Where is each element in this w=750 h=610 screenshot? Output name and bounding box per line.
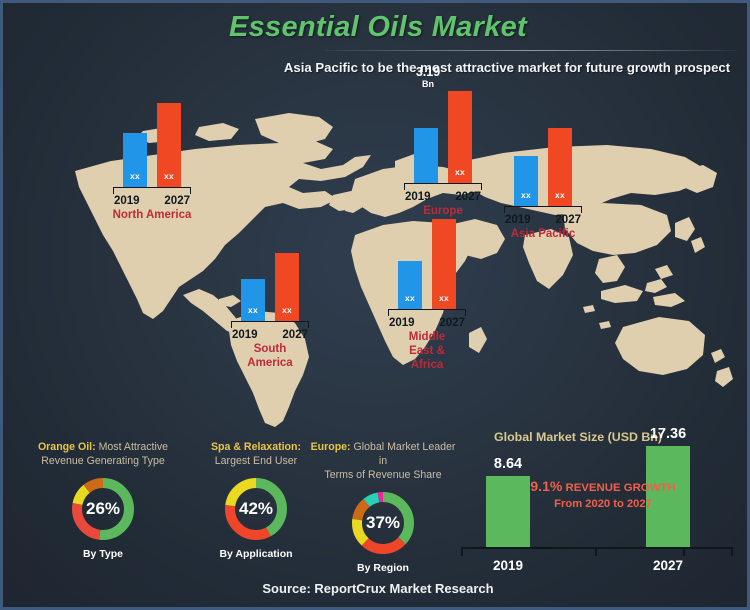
bar-2019-value: xx xyxy=(521,190,531,200)
donut-caption: Spa & Relaxation: Largest End User xyxy=(191,440,321,468)
region-axis xyxy=(388,309,466,316)
region-year-labels: 2019 2027 xyxy=(231,329,309,341)
donut-caption: Europe: Global Market Leader in Terms of… xyxy=(308,440,458,482)
donut-caption: Orange Oil: Most Attractive Revenue Gene… xyxy=(23,440,183,468)
gms-growth-line1-rest: REVENUE GROWTH xyxy=(562,482,675,494)
region-axis xyxy=(231,321,309,328)
page-subtitle: Asia Pacific to be the most attractive m… xyxy=(263,60,750,75)
gms-growth-line2: From 2020 to 2027 xyxy=(528,496,678,512)
bar-2019-value: xx xyxy=(405,293,415,303)
region-top-unit: Bn xyxy=(397,78,459,90)
bar-2019-value: xx xyxy=(248,305,258,315)
bar-2027: xx xyxy=(432,219,456,309)
donut-card-by-type: Orange Oil: Most Attractive Revenue Gene… xyxy=(23,440,183,560)
bar-2019: xx xyxy=(514,156,538,206)
region-year-labels: 2019 2027 xyxy=(388,317,466,329)
bar-2027: xx xyxy=(448,91,472,183)
bar-2027-value: xx xyxy=(282,305,292,315)
region-year-labels: 2019 2027 xyxy=(404,191,482,203)
donut-card-by-application: Spa & Relaxation: Largest End User 42% B… xyxy=(191,440,321,560)
bar-2027: xx xyxy=(548,128,572,206)
donut-highlight: Spa & Relaxation: xyxy=(211,441,301,453)
region-callout-north-america: xx xx 2019 2027 North America xyxy=(113,103,198,222)
donut-caption-line1: Most Attractive xyxy=(96,441,168,453)
gms-year-2019: 2019 xyxy=(473,558,543,573)
donut-caption-line2: Largest End User xyxy=(215,455,297,467)
year-label-2027: 2027 xyxy=(282,329,308,341)
bar-2027: xx xyxy=(275,253,299,321)
title-divider xyxy=(325,50,737,51)
region-axis xyxy=(113,187,191,194)
region-name: South America xyxy=(239,342,301,370)
year-label-2019: 2019 xyxy=(505,214,531,226)
gms-year-2027: 2027 xyxy=(633,558,703,573)
bar-2027: xx xyxy=(157,103,181,187)
header: Essential Oils Market Asia Pacific to be… xyxy=(3,3,750,89)
gms-axis xyxy=(461,547,733,556)
region-callout-asia-pacific: xx xx 2019 2027 Asia Pacific xyxy=(504,128,589,241)
donut-chart-by-type: 26% xyxy=(69,475,137,543)
bar-2019: xx xyxy=(241,279,265,321)
donut-footer: By Application xyxy=(191,548,321,560)
gms-value-2027: 17.36 xyxy=(633,426,703,442)
region-year-labels: 2019 2027 xyxy=(504,214,582,226)
region-name: Asia Pacific xyxy=(497,227,589,241)
bar-2027-value: xx xyxy=(455,167,465,177)
year-label-2019: 2019 xyxy=(114,195,140,207)
global-market-size-chart: Global Market Size (USD Bn) 8.64 17.36 9… xyxy=(453,428,743,578)
bar-2019-value: xx xyxy=(130,171,140,181)
donut-percent: 26% xyxy=(69,475,137,543)
year-label-2019: 2019 xyxy=(405,191,431,203)
region-bars: xx xx xyxy=(504,128,582,206)
bar-2027-value: xx xyxy=(164,171,174,181)
year-label-2027: 2027 xyxy=(439,317,465,329)
donut-percent: 42% xyxy=(222,475,290,543)
region-top-label: 3.19 Bn xyxy=(397,66,459,90)
year-label-2019: 2019 xyxy=(232,329,258,341)
year-label-2027: 2027 xyxy=(455,191,481,203)
region-year-labels: 2019 2027 xyxy=(113,195,191,207)
region-name: Europe xyxy=(412,204,474,218)
region-callout-south-america: xx xx 2019 2027 South America xyxy=(231,253,309,370)
bar-2019: xx xyxy=(398,261,422,309)
donut-chart-by-region: 37% xyxy=(349,489,417,557)
region-bars: xx xx xyxy=(231,253,309,321)
year-label-2027: 2027 xyxy=(555,214,581,226)
gms-value-2019: 8.64 xyxy=(473,456,543,472)
bar-2019: xx xyxy=(123,133,147,187)
donut-caption-line2: Terms of Revenue Share xyxy=(324,469,441,481)
region-bars: xx xyxy=(404,91,482,183)
donut-chart-by-application: 42% xyxy=(222,475,290,543)
gms-growth-annotation: 9.1% REVENUE GROWTH From 2020 to 2027 xyxy=(528,478,678,512)
source-note: Source: ReportCrux Market Research xyxy=(3,581,750,596)
region-axis xyxy=(504,206,582,213)
gms-bar-2019 xyxy=(486,476,530,547)
gms-axis-tick-right xyxy=(683,547,685,556)
gms-growth-line1: 9.1% REVENUE GROWTH xyxy=(528,478,678,496)
bar-2019 xyxy=(414,128,438,183)
donut-footer: By Type xyxy=(23,548,183,560)
donut-highlight: Orange Oil: xyxy=(38,441,96,453)
year-label-2019: 2019 xyxy=(389,317,415,329)
page-title: Essential Oils Market xyxy=(3,11,750,44)
bar-2027-value: xx xyxy=(555,190,565,200)
infographic-root: Essential Oils Market Asia Pacific to be… xyxy=(0,0,750,610)
region-callout-middle-east-africa: xx xx 2019 2027 Middle East & Africa xyxy=(388,219,466,372)
donut-highlight: Europe: xyxy=(311,441,351,453)
region-bars: xx xx xyxy=(388,219,466,309)
region-callout-europe: 3.19 Bn xx 2019 2027 Europe xyxy=(404,91,482,218)
donut-caption-line1: Global Market Leader in xyxy=(351,441,456,467)
bar-2027-value: xx xyxy=(439,293,449,303)
year-label-2027: 2027 xyxy=(164,195,190,207)
donut-card-by-region: Europe: Global Market Leader in Terms of… xyxy=(308,440,458,574)
donut-caption-line2: Revenue Generating Type xyxy=(41,455,164,467)
region-name: Middle East & Africa xyxy=(398,330,456,372)
donut-footer: By Region xyxy=(308,562,458,574)
gms-growth-percent: 9.1% xyxy=(530,478,562,494)
region-name: North America xyxy=(106,208,198,222)
region-top-value: 3.19 xyxy=(397,66,459,78)
region-axis xyxy=(404,183,482,190)
donut-percent: 37% xyxy=(349,489,417,557)
gms-axis-tick-mid xyxy=(595,547,597,556)
region-bars: xx xx xyxy=(113,103,191,187)
